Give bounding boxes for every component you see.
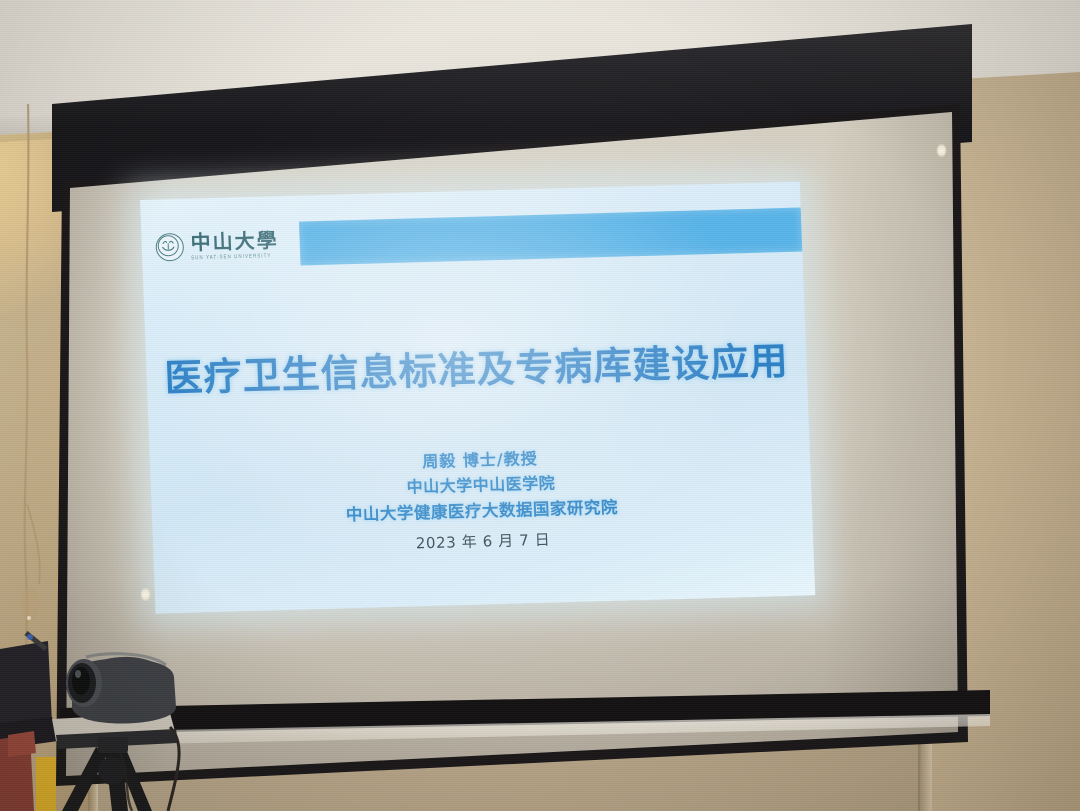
university-name-cn: 中山大學 (190, 230, 279, 252)
slide-title: 医疗卫生信息标准及专病库建设应用 (146, 329, 808, 402)
university-name-en: SUN YAT-SEN UNIVERSITY (191, 253, 279, 261)
screen-edge-specular-left (141, 588, 150, 601)
presentation-slide: 中山大學 SUN YAT-SEN UNIVERSITY 医疗卫生信息标准及专病库… (140, 182, 815, 614)
university-logo: 中山大學 SUN YAT-SEN UNIVERSITY (141, 222, 301, 270)
screen-edge-specular-right (937, 144, 946, 157)
projector-room-photo: 中山大學 SUN YAT-SEN UNIVERSITY 医疗卫生信息标准及专病库… (0, 0, 1080, 811)
foreground-equipment (0, 611, 320, 811)
slide-author-block: 周毅 博士/教授 中山大学中山医学院 中山大学健康医疗大数据国家研究院 (150, 439, 813, 533)
hanging-cable (16, 104, 56, 664)
university-logo-text: 中山大學 SUN YAT-SEN UNIVERSITY (190, 230, 279, 260)
slide-header-bar (299, 208, 802, 266)
university-seal-icon (155, 233, 184, 262)
laptop-screen (0, 641, 52, 731)
slide-header: 中山大學 SUN YAT-SEN UNIVERSITY (141, 208, 802, 270)
projected-slide-area: 中山大學 SUN YAT-SEN UNIVERSITY 医疗卫生信息标准及专病库… (140, 181, 836, 640)
